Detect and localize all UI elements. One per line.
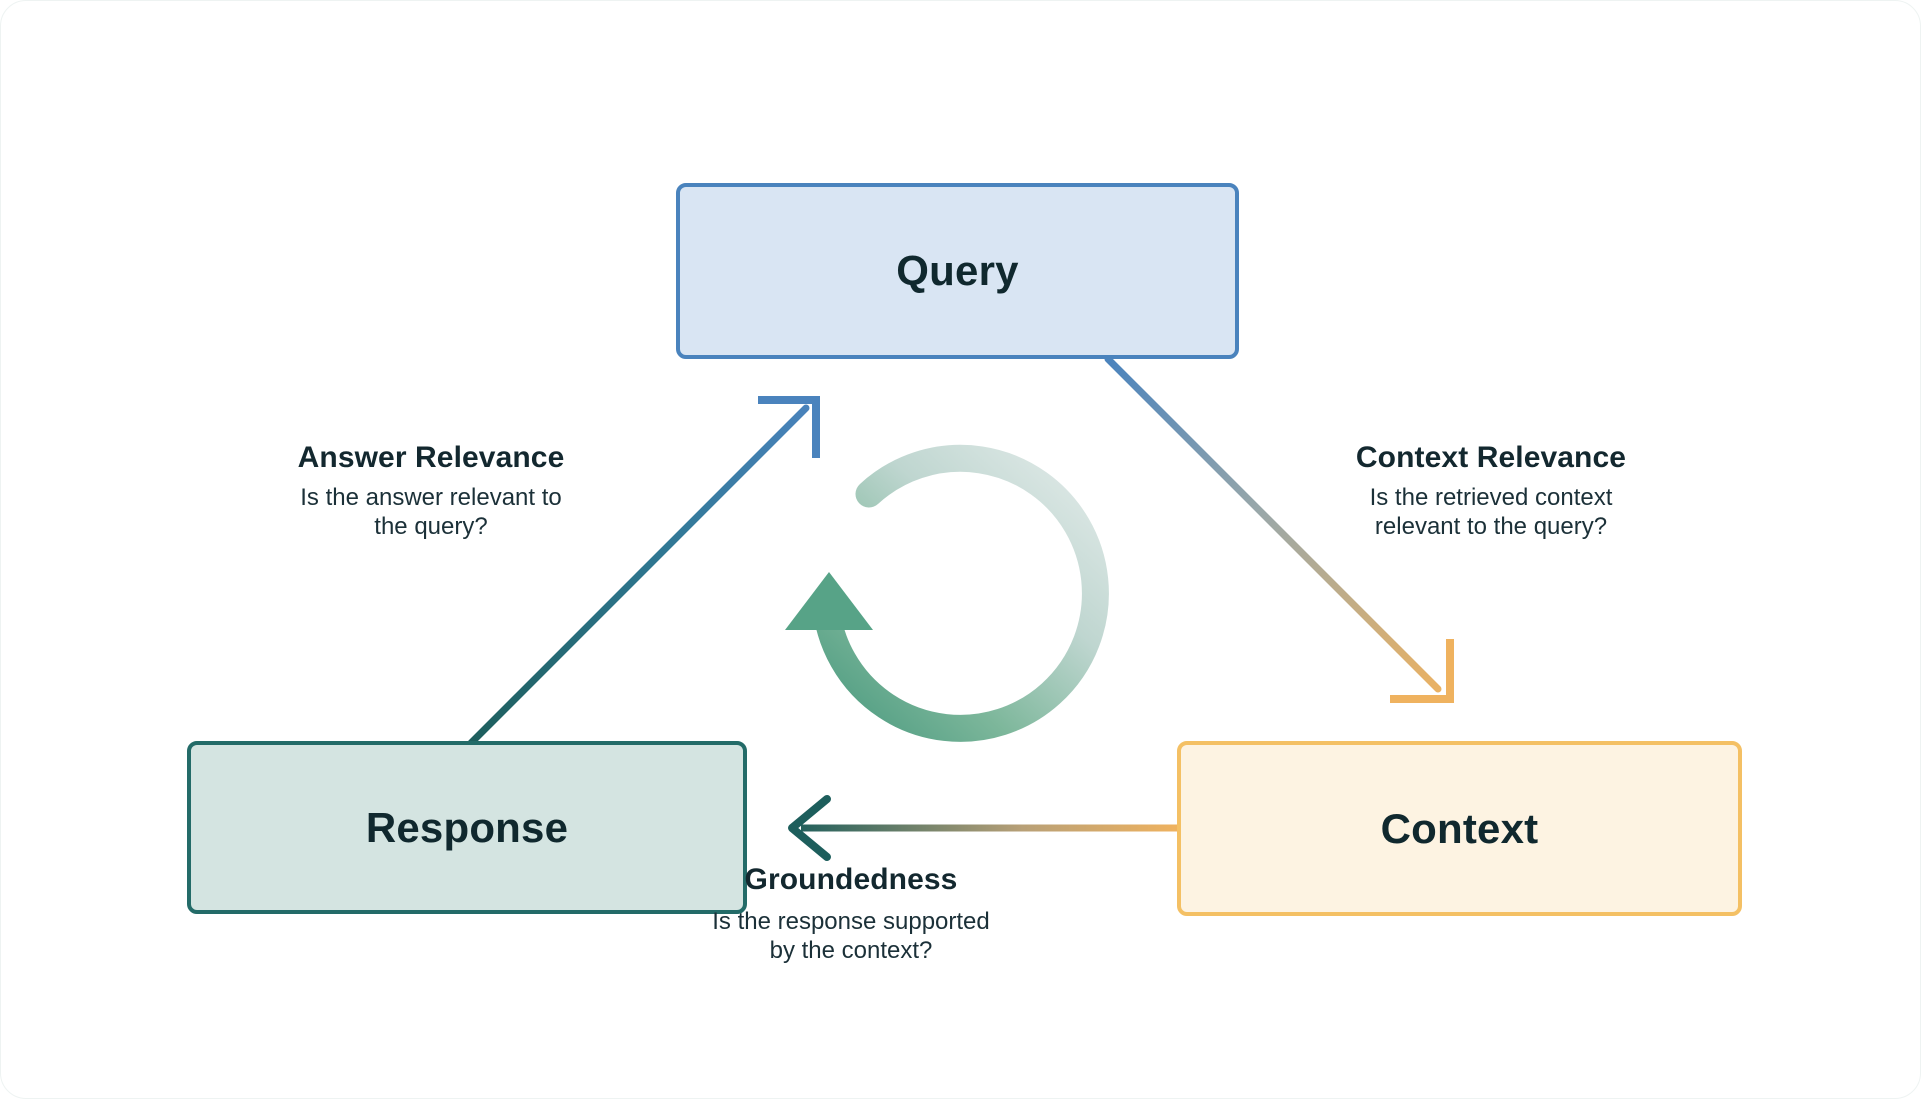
metric-context-relevance-title: Context Relevance <box>1211 441 1771 475</box>
node-context[interactable]: Context <box>1177 741 1742 916</box>
metric-answer-relevance-description-line1: Is the answer relevant to <box>151 483 711 512</box>
node-query[interactable]: Query <box>676 183 1239 359</box>
diagram-canvas: Query Response Context Answer Relevance … <box>0 0 1921 1099</box>
metric-answer-relevance-title: Answer Relevance <box>151 441 711 475</box>
metric-context-relevance-description: Is the retrieved context relevant to the… <box>1211 483 1771 542</box>
edge-context-to-response <box>792 799 1177 857</box>
node-context-label: Context <box>1381 805 1539 853</box>
metric-groundedness-title: Groundedness <box>521 863 1181 897</box>
node-response-label: Response <box>366 804 568 852</box>
metric-groundedness-description-line2: by the context? <box>521 936 1181 965</box>
node-query-label: Query <box>896 247 1018 295</box>
metric-context-relevance: Context Relevance Is the retrieved conte… <box>1211 441 1771 542</box>
metric-answer-relevance-description: Is the answer relevant to the query? <box>151 483 711 542</box>
circular-arrow-icon <box>785 458 1095 728</box>
metric-context-relevance-description-line2: relevant to the query? <box>1211 512 1771 541</box>
metric-groundedness-description: Is the response supported by the context… <box>521 907 1181 966</box>
metric-groundedness: Groundedness Is the response supported b… <box>521 863 1181 966</box>
metric-answer-relevance-description-line2: the query? <box>151 512 711 541</box>
metric-context-relevance-description-line1: Is the retrieved context <box>1211 483 1771 512</box>
metric-groundedness-description-line1: Is the response supported <box>521 907 1181 936</box>
metric-answer-relevance: Answer Relevance Is the answer relevant … <box>151 441 711 542</box>
